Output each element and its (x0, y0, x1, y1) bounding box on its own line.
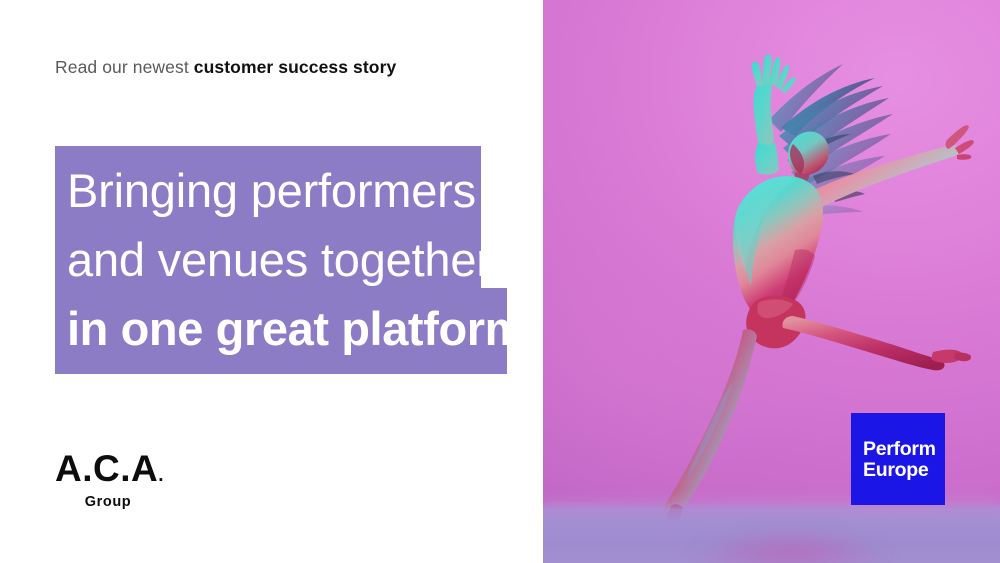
hero-photo: Perform Europe (543, 0, 1000, 563)
perform-europe-line-2: Europe (863, 460, 936, 481)
headline-text: Bringing performers and venues together … (55, 146, 507, 374)
aca-group-logo: A.C.A. Group (55, 450, 205, 510)
headline-line-3: in one great platform (67, 294, 507, 363)
eyebrow-light-text: Read our newest (55, 57, 194, 77)
headline-line-1: Bringing performers (67, 156, 507, 225)
aca-logo-trailing-dot: . (158, 465, 164, 486)
promo-banner: Read our newest customer success story B… (0, 0, 1000, 563)
eyebrow-bold-text: customer success story (194, 57, 397, 77)
aca-logo-letters: A.C.A. (55, 450, 205, 495)
left-text-panel: Read our newest customer success story B… (0, 0, 543, 563)
perform-europe-badge-text: Perform Europe (863, 439, 936, 481)
aca-logo-letters-text: A.C.A (55, 448, 158, 489)
headline-line-2: and venues together (67, 225, 507, 294)
headline-block: Bringing performers and venues together … (55, 146, 510, 374)
aca-logo-subtitle: Group (55, 494, 161, 510)
perform-europe-badge: Perform Europe (851, 413, 945, 505)
eyebrow-text: Read our newest customer success story (55, 57, 396, 78)
photo-floor-reflection (671, 517, 909, 563)
perform-europe-line-1: Perform (863, 439, 936, 460)
